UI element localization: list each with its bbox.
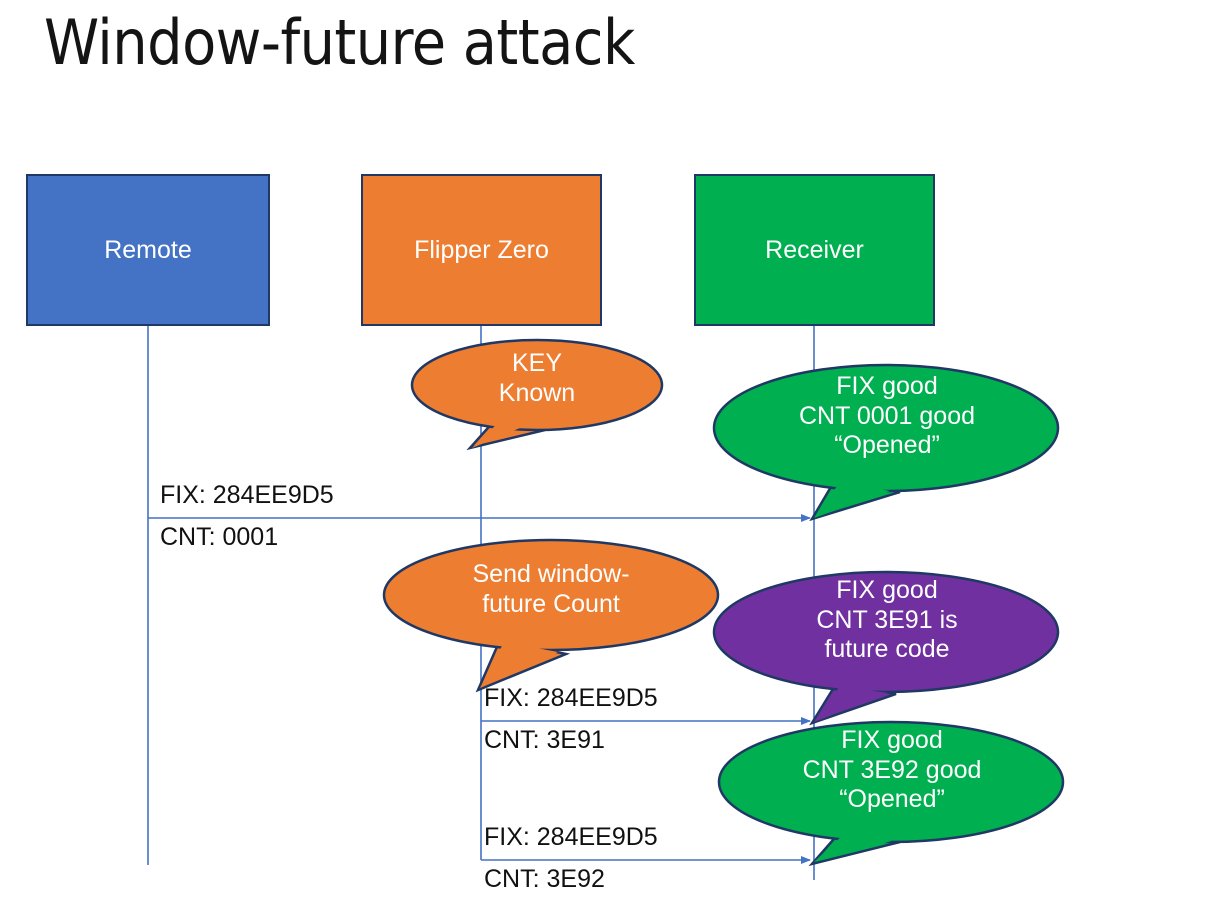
callout-text-fix-good-3e92: FIX good CNT 3E92 good “Opened” <box>747 726 1037 815</box>
message-label-1-cnt: CNT: 0001 <box>160 523 278 552</box>
message-label-3-cnt: CNT: 3E92 <box>484 865 605 894</box>
actor-label-flipper: Flipper Zero <box>414 236 549 265</box>
actor-label-receiver: Receiver <box>765 236 864 265</box>
message-label-2-cnt: CNT: 3E91 <box>484 726 605 755</box>
callout-text-fix-good-3e91: FIX good CNT 3E91 is future code <box>742 576 1032 665</box>
message-label-2-fix: FIX: 284EE9D5 <box>484 684 658 713</box>
slide-canvas: Window-future attack Remote Flipper Zero… <box>0 0 1216 898</box>
message-label-1-fix: FIX: 284EE9D5 <box>160 481 334 510</box>
message-label-3-fix: FIX: 284EE9D5 <box>484 823 658 852</box>
callout-text-fix-good-0001: FIX good CNT 0001 good “Opened” <box>742 372 1032 461</box>
actor-box-flipper[interactable]: Flipper Zero <box>361 174 602 326</box>
actor-label-remote: Remote <box>104 236 192 265</box>
actor-box-remote[interactable]: Remote <box>26 174 270 326</box>
callout-text-send-window-future-count: Send window- future Count <box>411 560 691 619</box>
page-title: Window-future attack <box>44 6 635 79</box>
callout-text-key-known: KEY Known <box>437 349 637 408</box>
actor-box-receiver[interactable]: Receiver <box>694 174 935 326</box>
